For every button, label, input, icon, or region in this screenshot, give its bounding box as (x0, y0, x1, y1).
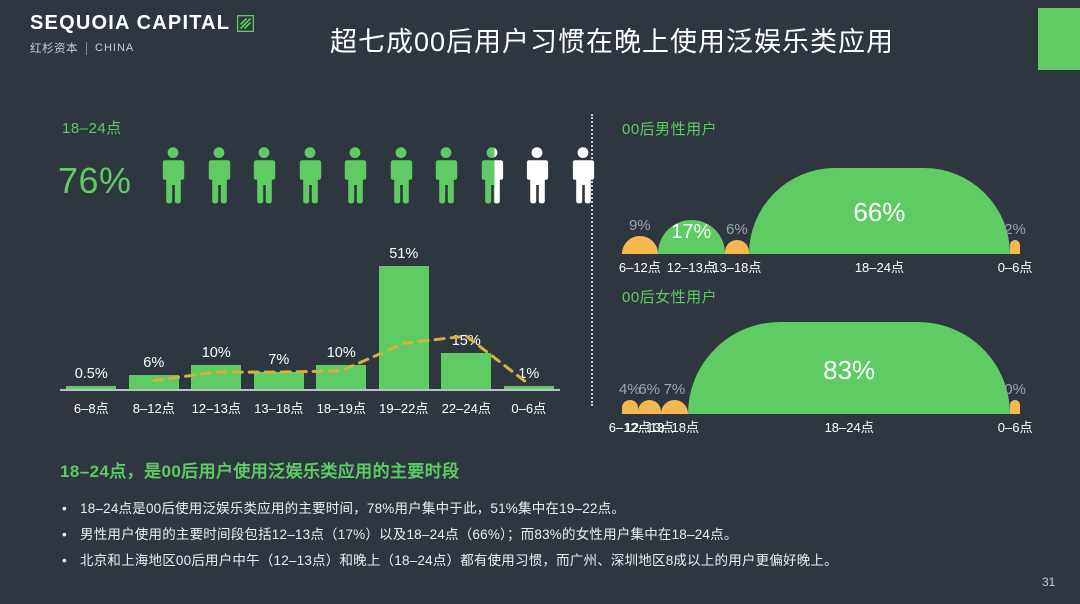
male-dome-chart: 00后男性用户 9%6–12点17%12–13点6%13–18点66%18–24… (622, 118, 1042, 258)
dome-value-label: 66% (749, 197, 1010, 228)
logo-chinese-name: 红杉资本 (30, 40, 78, 56)
bar-category-label: 19–22点 (373, 398, 436, 417)
bar-category-label: 8–12点 (123, 398, 186, 417)
pictogram-person (519, 143, 555, 207)
dome-segment (1010, 240, 1020, 254)
bar-value-label: 15% (452, 333, 481, 349)
bar-category-label: 12–13点 (185, 398, 248, 417)
dome-segment (725, 240, 749, 254)
time-of-day-bar-chart: 0.5%6%10%7%10%51%15%1% 6–8点8–12点12–13点13… (60, 232, 560, 412)
pictogram-person (201, 143, 237, 207)
bullet-item: •18–24点是00后使用泛娱乐类应用的主要时间，78%用户集中于此，51%集中… (62, 496, 1042, 522)
dome-value-label: 2% (998, 221, 1032, 238)
dome-value-label: 83% (688, 355, 1010, 386)
female-dome-group: 4%6–12点6%12–13点7%13–18点83%18–24点0%0–6点 (622, 314, 1042, 414)
bar-rect (441, 353, 491, 389)
bar-category-label: 22–24点 (435, 398, 498, 417)
bar-column: 10% (316, 232, 366, 389)
male-chart-title: 00后男性用户 (622, 118, 717, 139)
bar-value-label: 10% (202, 345, 231, 361)
pictogram-person (246, 143, 282, 207)
page-title: 超七成00后用户习惯在晚上使用泛娱乐类应用 (330, 20, 894, 59)
bar-rect (316, 365, 366, 389)
bar-column: 1% (504, 232, 554, 389)
dome-category-label: 0–6点 (996, 257, 1034, 276)
bar-value-label: 7% (268, 352, 289, 368)
dome-segment (622, 400, 638, 414)
bullet-item: •北京和上海地区00后用户中午（12–13点）和晚上（18–24点）都有使用习惯… (62, 548, 1042, 574)
bar-rect (379, 266, 429, 389)
dome-category-label: 18–24点 (674, 417, 1024, 436)
bullet-marker: • (62, 548, 80, 574)
dome-category-label: 0–6点 (996, 417, 1034, 436)
logo-text: SEQUOIA CAPITAL (30, 12, 230, 35)
bar-rect (254, 372, 304, 389)
pictogram-person (474, 143, 510, 207)
bar-column: 6% (129, 232, 179, 389)
pictogram-person (383, 143, 419, 207)
conclusion-heading: 18–24点，是00后用户使用泛娱乐类应用的主要时段 (60, 457, 460, 482)
bullet-marker: • (62, 522, 80, 548)
bullet-marker: • (62, 496, 80, 522)
logo-divider (86, 42, 87, 55)
bullet-text: 18–24点是00后使用泛娱乐类应用的主要时间，78%用户集中于此，51%集中在… (80, 496, 625, 522)
slide-header: SEQUOIA CAPITAL 红杉资本 CHINA 超七成00后用户习惯在晚上… (0, 0, 1080, 80)
bar-column: 15% (441, 232, 491, 389)
logo-region: CHINA (95, 42, 134, 54)
page-number: 31 (1042, 575, 1055, 589)
bullet-text: 北京和上海地区00后用户中午（12–13点）和晚上（18–24点）都有使用习惯，… (80, 548, 838, 574)
dome-segment (661, 400, 688, 414)
x-axis (60, 389, 560, 391)
bullet-item: •男性用户使用的主要时间段包括12–13点（17%）以及18–24点（66%）；… (62, 522, 1042, 548)
pictogram-percent: 76% (58, 160, 132, 202)
pictogram-person (155, 143, 191, 207)
dome-segment (622, 236, 658, 254)
logo-subtitle: 红杉资本 CHINA (30, 40, 254, 56)
pictogram-person (292, 143, 328, 207)
bar-category-label: 6–8点 (60, 398, 123, 417)
slide: SEQUOIA CAPITAL 红杉资本 CHINA 超七成00后用户习惯在晚上… (0, 0, 1080, 604)
bar-value-label: 51% (389, 246, 418, 262)
bar-value-label: 1% (518, 366, 539, 382)
male-dome-group: 9%6–12点17%12–13点6%13–18点66%18–24点2%0–6点 (622, 148, 1042, 254)
dome-segment (1010, 400, 1020, 414)
pictogram-figures (155, 143, 601, 207)
bullet-list: •18–24点是00后使用泛娱乐类应用的主要时间，78%用户集中于此，51%集中… (62, 496, 1042, 574)
x-axis-labels: 6–8点8–12点12–13点13–18点18–19点19–22点22–24点0… (60, 398, 560, 420)
bar-group: 0.5%6%10%7%10%51%15%1% (60, 232, 560, 389)
bar-category-label: 13–18点 (248, 398, 311, 417)
bar-value-label: 10% (327, 345, 356, 361)
accent-block (1038, 8, 1080, 70)
bar-category-label: 0–6点 (498, 398, 561, 417)
bar-column: 7% (254, 232, 304, 389)
pictogram-label: 18–24点 (62, 117, 122, 138)
bar-rect (191, 365, 241, 389)
bar-value-label: 6% (143, 355, 164, 371)
dome-segment (638, 400, 661, 414)
sequoia-capital-logo: SEQUOIA CAPITAL 红杉资本 CHINA (30, 12, 254, 56)
sequoia-leaf-icon (237, 15, 254, 32)
pictogram-person (337, 143, 373, 207)
pictogram-person (428, 143, 464, 207)
female-dome-chart: 00后女性用户 4%6–12点6%12–13点7%13–18点83%18–24点… (622, 286, 1042, 412)
bar-rect (129, 375, 179, 389)
bullet-text: 男性用户使用的主要时间段包括12–13点（17%）以及18–24点（66%）；而… (80, 522, 738, 548)
bar-column: 10% (191, 232, 241, 389)
pictogram-person (565, 143, 601, 207)
bar-value-label: 0.5% (75, 366, 108, 382)
logo-wordmark: SEQUOIA CAPITAL (30, 12, 254, 35)
female-chart-title: 00后女性用户 (622, 286, 717, 307)
bar-column: 51% (379, 232, 429, 389)
bar-column: 0.5% (66, 232, 116, 389)
dome-category-label: 18–24点 (735, 257, 1024, 276)
dome-value-label: 0% (998, 381, 1032, 398)
bar-category-label: 18–19点 (310, 398, 373, 417)
